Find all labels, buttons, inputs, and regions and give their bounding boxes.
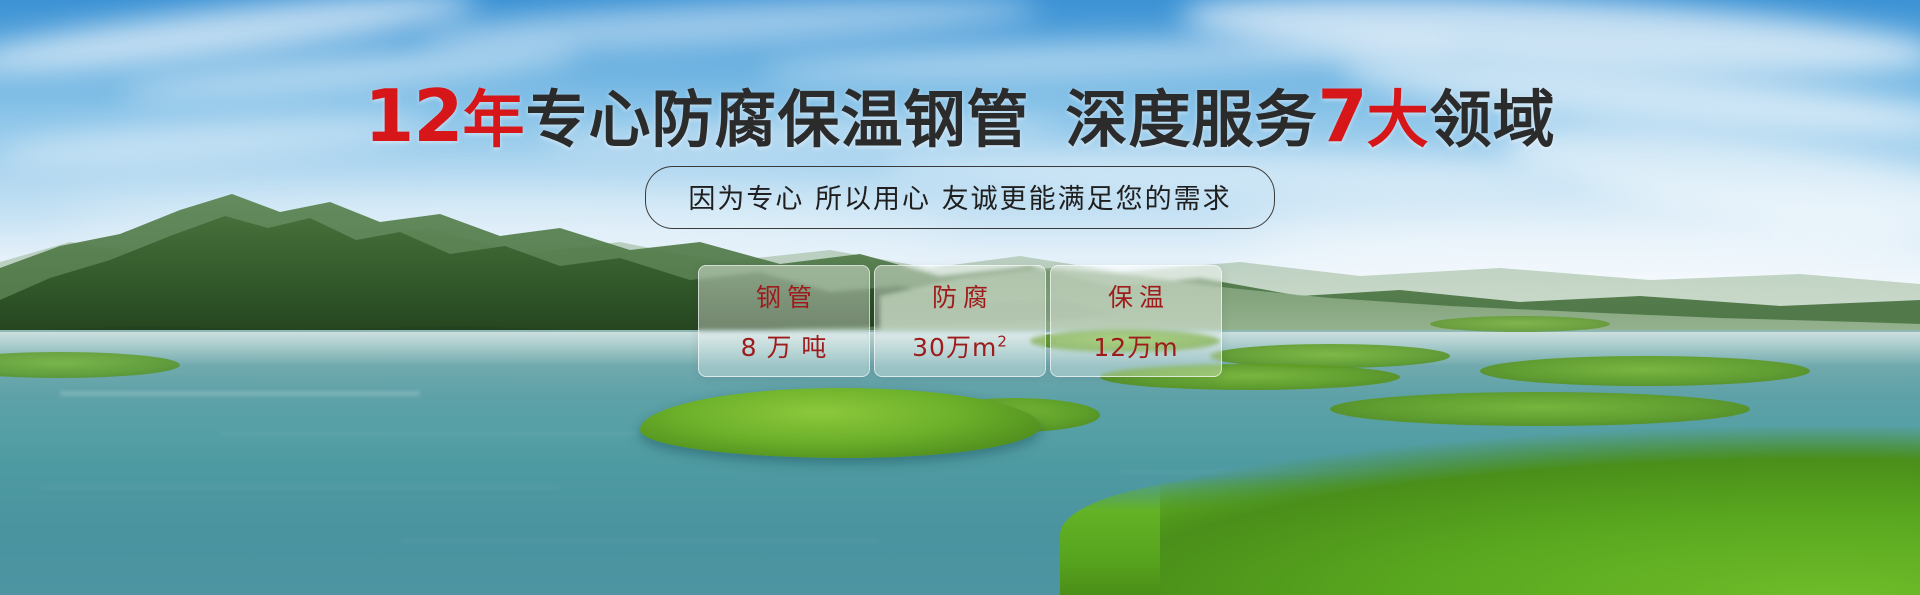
water-streak [60, 392, 420, 395]
water-streak [220, 432, 640, 435]
banner-headline: 12年专心防腐保温钢管深度服务7大领域 [0, 80, 1920, 152]
grass-foreground [1160, 400, 1920, 595]
banner-subtitle: 因为专心 所以用心 友诚更能满足您的需求 [645, 166, 1274, 229]
stat-card-value: 30万m2 [912, 328, 1008, 364]
headline-fields-unit: 大 [1367, 83, 1430, 156]
stat-cards: 钢管 8 万 吨 防腐 30万m2 保温 12万m [0, 265, 1920, 377]
stat-card-title: 保温 [1102, 278, 1170, 314]
stat-card-value: 8 万 吨 [741, 328, 828, 364]
stat-card-insulation[interactable]: 保温 12万m [1050, 265, 1222, 377]
headline-years-unit: 年 [463, 83, 526, 156]
water-streak [400, 540, 880, 543]
stat-card-title: 防腐 [926, 278, 994, 314]
stat-card-steel-pipe[interactable]: 钢管 8 万 吨 [698, 265, 870, 377]
stat-card-anticorrosion[interactable]: 防腐 30万m2 [874, 265, 1046, 377]
water-streak [40, 486, 560, 489]
stat-card-value: 12万m [1093, 328, 1178, 364]
headline-service-text: 深度服务 [1066, 83, 1318, 156]
subtitle-container: 因为专心 所以用心 友诚更能满足您的需求 [0, 166, 1920, 229]
stat-card-value-text: 8 万 吨 [741, 333, 828, 362]
hero-banner: 12年专心防腐保温钢管深度服务7大领域 因为专心 所以用心 友诚更能满足您的需求… [0, 0, 1920, 595]
headline-fields-text: 领域 [1430, 83, 1556, 156]
headline-main-text: 专心防腐保温钢管 [526, 83, 1030, 156]
stat-card-title: 钢管 [750, 278, 818, 314]
headline-fields-number: 7 [1318, 74, 1367, 158]
stat-card-value-sup: 2 [997, 333, 1008, 351]
stat-card-value-text: 30万m [912, 333, 997, 362]
stat-card-value-text: 12万m [1093, 333, 1178, 362]
headline-years-number: 12 [364, 74, 462, 158]
